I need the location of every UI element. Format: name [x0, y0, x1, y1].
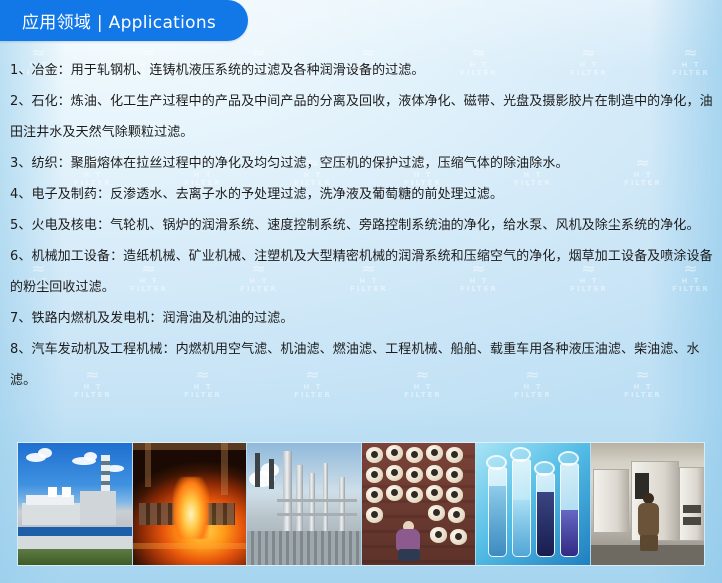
application-item-3: 3、纺织：聚脂熔体在拉丝过程中的净化及均匀过滤，空压机的保护过滤，压缩气体的除油…	[10, 148, 716, 179]
application-photo-strip	[18, 443, 704, 565]
cnc-workshop-photo	[591, 443, 705, 565]
cnc-operator	[638, 493, 660, 551]
application-item-4: 4、电子及制药：反渗透水、去离子水的予处理过滤，洗净液及葡萄糖的前处理过滤。	[10, 179, 716, 210]
application-item-7: 7、铁路内燃机及发电机：润滑油及机油的过滤。	[10, 303, 716, 334]
applications-page: ≈H TFILTER ≈H TFILTER ≈H TFILTER ≈H TFIL…	[0, 0, 722, 583]
page-title: 应用领域 | Applications	[22, 8, 216, 33]
application-item-1: 1、冶金：用于轧钢机、连铸机液压系统的过滤及各种润滑设备的过滤。	[10, 55, 716, 86]
power-plant-photo	[18, 443, 132, 565]
steel-mill-photo	[133, 443, 247, 565]
application-item-8: 8、汽车发动机及工程机械：内燃机用空气滤、机油滤、燃油滤、工程机械、船舶、载重车…	[10, 334, 716, 396]
refinery-photo	[247, 443, 361, 565]
laboratory-photo	[476, 443, 590, 565]
application-item-6: 6、机械加工设备：造纸机械、矿业机械、注塑机及大型精密机械的润滑系统和压缩空气的…	[10, 241, 716, 303]
application-item-5: 5、火电及核电：气轮机、锅炉的润滑系统、速度控制系统、旁路控制系统油的净化，给水…	[10, 210, 716, 241]
applications-list: 1、冶金：用于轧钢机、连铸机液压系统的过滤及各种润滑设备的过滤。 2、石化：炼油…	[0, 55, 722, 396]
textile-worker	[396, 521, 422, 561]
textile-mill-photo	[362, 443, 476, 565]
section-header-pill: 应用领域 | Applications	[0, 0, 248, 41]
application-item-2: 2、石化：炼油、化工生产过程中的产品及中间产品的分离及回收，液体净化、磁带、光盘…	[10, 86, 716, 148]
